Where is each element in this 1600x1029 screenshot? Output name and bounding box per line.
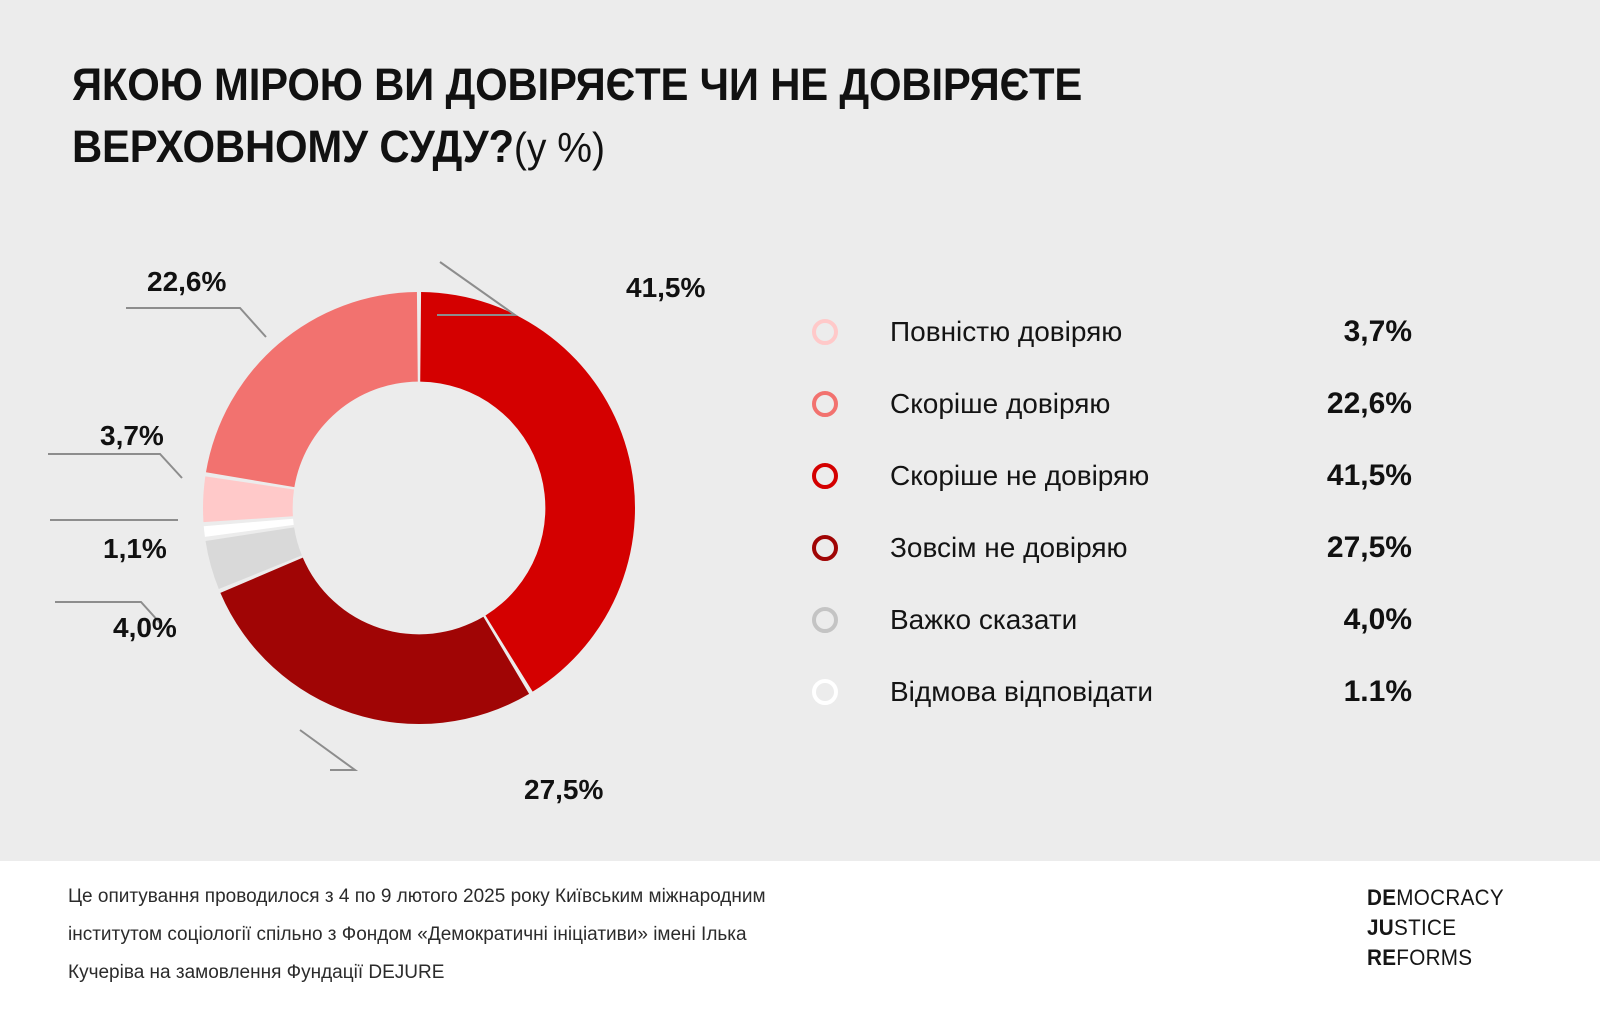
logo-rest-mocracy: MOCRACY: [1396, 885, 1504, 910]
legend-row[interactable]: Відмова відповідати 1.1%: [812, 656, 1412, 728]
infographic-canvas: ЯКОЮ МІРОЮ ВИ ДОВІРЯЄТЕ ЧИ НЕ ДОВІРЯЄТЕ …: [0, 0, 1600, 1029]
legend-value: 22,6%: [1327, 387, 1412, 421]
donut-slice[interactable]: [206, 292, 418, 487]
legend-label: Скоріше не довіряю: [890, 460, 1149, 492]
legend-value: 4,0%: [1344, 603, 1412, 637]
callout-value-275: 27,5%: [524, 774, 603, 806]
legend-row[interactable]: Зовсім не довіряю 27,5%: [812, 512, 1412, 584]
title-line-2: ВЕРХОВНОМУ СУДУ?(у %): [72, 116, 1337, 179]
source-note-line-1: Це опитування проводилося з 4 по 9 лютог…: [68, 878, 898, 916]
callout-value-226: 22,6%: [147, 266, 226, 298]
legend-label: Важко сказати: [890, 604, 1077, 636]
legend-marker-icon: [812, 607, 838, 633]
donut-slice-group: [203, 292, 635, 724]
logo-line-justice: JUSTICE: [1367, 913, 1489, 943]
donut-slice[interactable]: [220, 558, 529, 724]
legend-label: Зовсім не довіряю: [890, 532, 1128, 564]
legend-value: 3,7%: [1344, 315, 1412, 349]
logo-line-democracy: DEMOCRACY: [1367, 883, 1489, 913]
title-line-2-text: ВЕРХОВНОМУ СУДУ?: [72, 121, 514, 172]
legend-row[interactable]: Повністю довіряю 3,7%: [812, 296, 1412, 368]
legend-value: 1.1%: [1344, 675, 1412, 709]
title-line-1: ЯКОЮ МІРОЮ ВИ ДОВІРЯЄТЕ ЧИ НЕ ДОВІРЯЄТЕ: [72, 54, 1337, 116]
logo-bold-ju: JU: [1367, 915, 1394, 940]
legend-value: 27,5%: [1327, 531, 1412, 565]
legend-marker-icon: [812, 463, 838, 489]
legend-row[interactable]: Важко сказати 4,0%: [812, 584, 1412, 656]
callout-value-11: 1,1%: [103, 533, 167, 565]
callout-value-415: 41,5%: [626, 272, 705, 304]
logo-bold-re: RE: [1367, 945, 1396, 970]
logo-rest-stice: STICE: [1394, 915, 1456, 940]
legend-row[interactable]: Скоріше не довіряю 41,5%: [812, 440, 1412, 512]
logo-bold-de: DE: [1367, 885, 1396, 910]
callout-value-37: 3,7%: [100, 420, 164, 452]
source-note-line-2: інститутом соціології спільно з Фондом «…: [68, 916, 898, 954]
legend-row[interactable]: Скоріше довіряю 22,6%: [812, 368, 1412, 440]
legend-marker-icon: [812, 679, 838, 705]
logo-rest-forms: FORMS: [1396, 945, 1472, 970]
callout-value-40: 4,0%: [113, 612, 177, 644]
chart-legend: Повністю довіряю 3,7% Скоріше довіряю 22…: [812, 296, 1412, 728]
legend-marker-icon: [812, 391, 838, 417]
legend-label: Повністю довіряю: [890, 316, 1122, 348]
organization-logo: DEMOCRACY JUSTICE REFORMS: [1367, 883, 1497, 973]
legend-label: Скоріше довіряю: [890, 388, 1110, 420]
legend-marker-icon: [812, 319, 838, 345]
legend-label: Відмова відповідати: [890, 676, 1153, 708]
donut-chart: 41,5% 27,5% 4,0% 1,1% 3,7% 22,6%: [0, 230, 800, 800]
page-title: ЯКОЮ МІРОЮ ВИ ДОВІРЯЄТЕ ЧИ НЕ ДОВІРЯЄТЕ …: [72, 54, 1432, 179]
source-note: Це опитування проводилося з 4 по 9 лютог…: [68, 878, 898, 992]
logo-line-reforms: REFORMS: [1367, 943, 1489, 973]
title-unit: (у %): [514, 124, 605, 171]
legend-value: 41,5%: [1327, 459, 1412, 493]
legend-marker-icon: [812, 535, 838, 561]
source-note-line-3: Кучеріва на замовлення Фундації DEJURE: [68, 954, 898, 992]
donut-svg: [0, 230, 800, 800]
